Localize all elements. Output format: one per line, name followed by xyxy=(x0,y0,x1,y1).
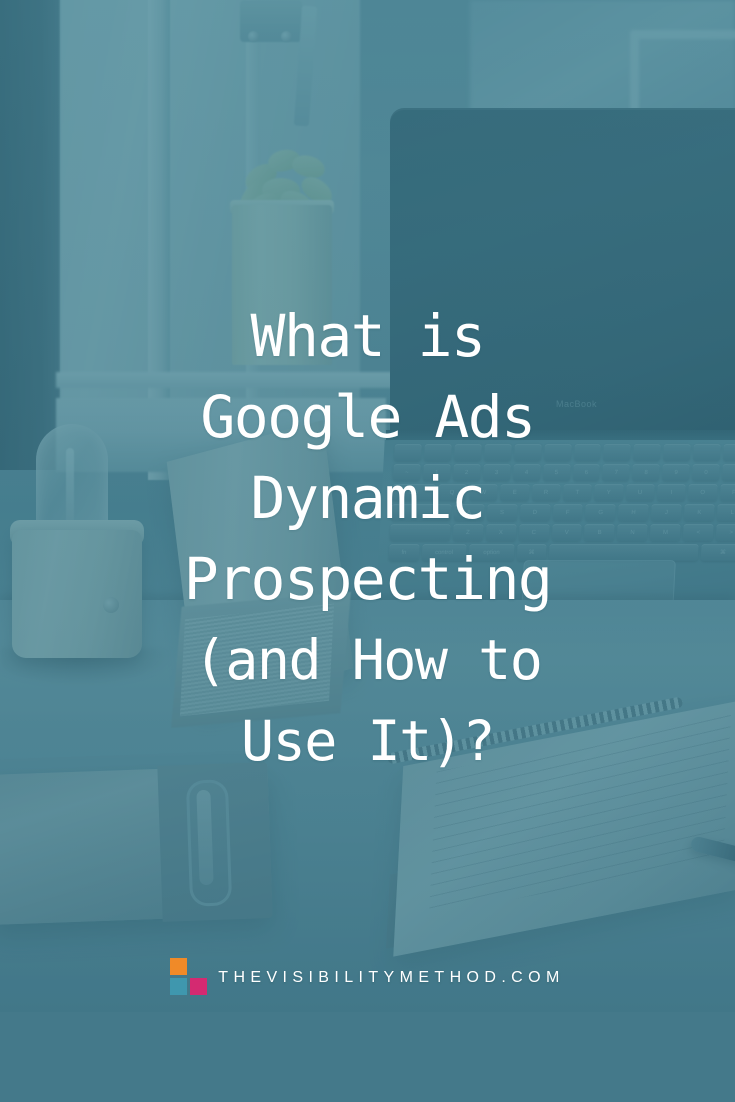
logo-square-orange xyxy=(170,958,187,975)
logo-square-pink xyxy=(190,978,207,995)
brand-url-text: THEVISIBILITYMETHOD.COM xyxy=(218,969,564,987)
pin-title: What is Google Ads Dynamic Prospecting (… xyxy=(0,296,735,782)
brand-footer[interactable]: THEVISIBILITYMETHOD.COM xyxy=(0,952,735,1004)
pinterest-pin-graphic: MacBook ~123 4567 890 tabQWE RTYU IOP AS… xyxy=(0,0,735,1102)
title-line-4: Prospecting xyxy=(40,539,695,620)
logo-square-teal xyxy=(170,978,187,995)
bottom-solid-band xyxy=(0,1012,735,1102)
title-line-5: (and How to xyxy=(40,620,695,701)
title-line-6: Use It)? xyxy=(40,701,695,782)
title-line-1: What is xyxy=(40,296,695,377)
title-line-3: Dynamic xyxy=(40,458,695,539)
title-line-2: Google Ads xyxy=(40,377,695,458)
three-square-logo-icon xyxy=(170,958,206,998)
